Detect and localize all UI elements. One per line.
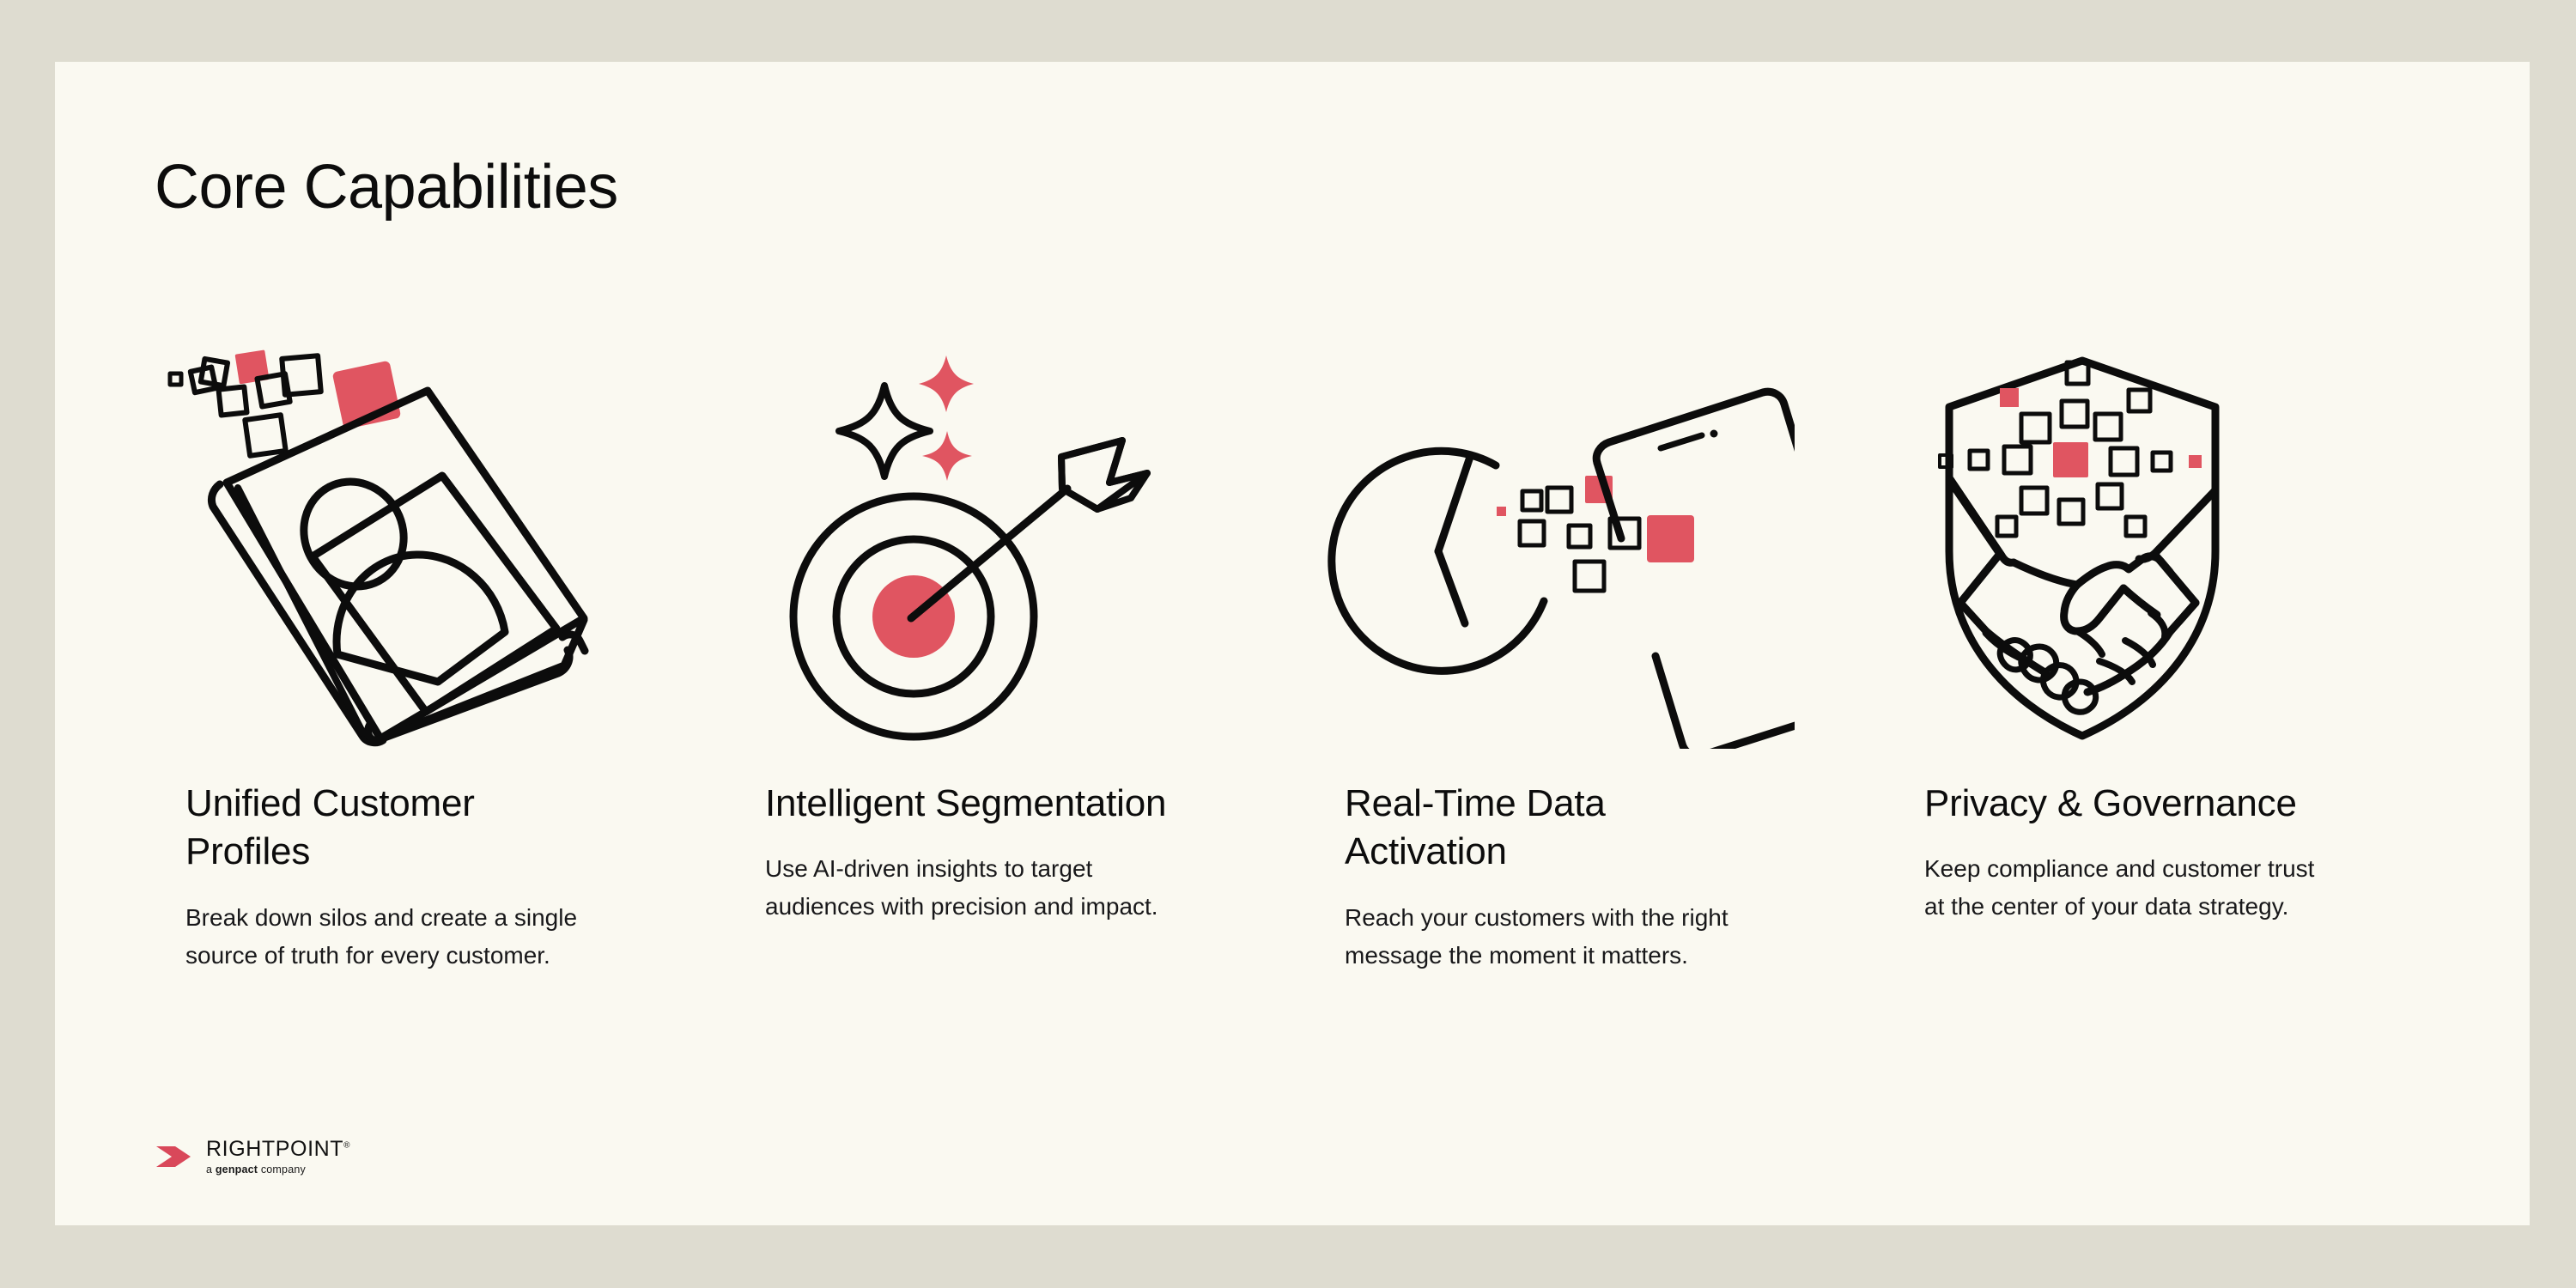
logo-text-block: RIGHTPOINT® a genpact company xyxy=(206,1139,350,1176)
logo-tagline-suffix: company xyxy=(258,1163,306,1176)
logo-wordmark-text: RIGHTPOINT xyxy=(206,1137,343,1161)
content-card: Core Capabilities xyxy=(55,62,2530,1225)
slide-root: Core Capabilities xyxy=(0,0,2576,1288)
capability-body: Reach your customers with the right mess… xyxy=(1345,899,1748,975)
book-with-person-profile-icon xyxy=(155,345,635,749)
registered-mark: ® xyxy=(343,1140,350,1150)
capability-body: Use AI-driven insights to target audienc… xyxy=(765,850,1169,926)
capability-card-2[interactable]: Intelligent Segmentation Use AI-driven i… xyxy=(734,345,1314,926)
logo-tagline-prefix: a xyxy=(206,1163,216,1176)
page-title: Core Capabilities xyxy=(155,156,618,218)
shield-with-handshake-and-data-squares-icon xyxy=(1893,345,2374,749)
capability-title: Privacy & Governance xyxy=(1924,780,2328,828)
capability-card-1[interactable]: Unified Customer Profiles Break down sil… xyxy=(155,345,734,975)
logo-tagline: a genpact company xyxy=(206,1164,350,1176)
rightpoint-arrow-mark xyxy=(153,1138,199,1176)
target-with-arrow-and-sparkles-icon xyxy=(734,345,1215,749)
capability-title: Unified Customer Profiles xyxy=(185,780,589,877)
capability-title: Intelligent Segmentation xyxy=(765,780,1169,828)
rightpoint-logo: RIGHTPOINT® a genpact company xyxy=(153,1138,350,1176)
capability-body: Keep compliance and customer trust at th… xyxy=(1924,850,2328,926)
capability-card-3[interactable]: Real-Time Data Activation Reach your cus… xyxy=(1314,345,1893,975)
capability-card-4[interactable]: Privacy & Governance Keep compliance and… xyxy=(1893,345,2473,926)
logo-tagline-brand: genpact xyxy=(216,1163,258,1176)
capabilities-grid: Unified Customer Profiles Break down sil… xyxy=(155,345,2473,975)
logo-wordmark: RIGHTPOINT® xyxy=(206,1139,350,1160)
capability-title: Real-Time Data Activation xyxy=(1345,780,1748,877)
capability-body: Break down silos and create a single sou… xyxy=(185,899,589,975)
clock-with-data-squares-to-phone-icon xyxy=(1314,345,1795,749)
